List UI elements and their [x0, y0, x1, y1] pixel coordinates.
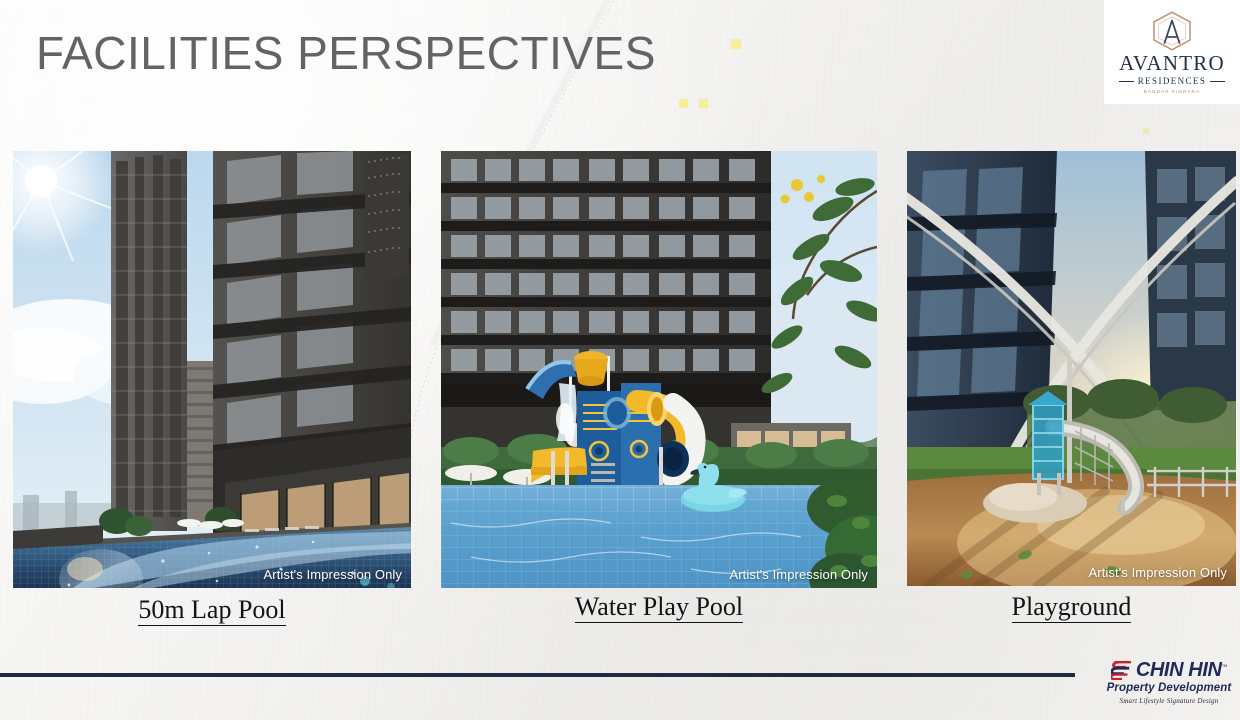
artist-impression-label: Artist's Impression Only [1088, 565, 1227, 580]
playground-image [907, 151, 1236, 586]
decor-square-4 [1143, 128, 1149, 134]
decor-square-1 [731, 39, 741, 49]
caption-water-play-pool-text: Water Play Pool [575, 592, 743, 623]
chin-hin-name: CHIN HIN™ [1136, 660, 1227, 680]
gallery-card-playground[interactable]: Artist's Impression Only [907, 151, 1236, 586]
avantro-name: AVANTRO [1119, 53, 1225, 74]
lap-pool-image [13, 151, 411, 588]
gallery-card-water-play-pool[interactable]: Artist's Impression Only [441, 151, 877, 588]
caption-lap-pool: 50m Lap Pool [13, 595, 411, 625]
rule-left [1119, 81, 1134, 82]
avantro-monogram-icon [1149, 10, 1195, 52]
caption-playground: Playground [907, 592, 1236, 622]
chin-hin-mark-icon [1111, 661, 1133, 680]
decor-square-3 [699, 99, 708, 108]
decor-square-2 [679, 99, 688, 108]
caption-playground-text: Playground [1012, 592, 1132, 623]
avantro-subtitle: RESIDENCES [1138, 77, 1207, 86]
chin-hin-tagline: Smart Lifestyle Signature Design [1120, 697, 1219, 705]
avantro-location: BANDAR KINRARA [1144, 89, 1200, 94]
gallery-card-lap-pool[interactable]: Artist's Impression Only [13, 151, 411, 588]
caption-lap-pool-text: 50m Lap Pool [138, 595, 285, 626]
avantro-logo: AVANTRO RESIDENCES BANDAR KINRARA [1104, 0, 1240, 104]
caption-water-play-pool: Water Play Pool [441, 592, 877, 622]
water-play-pool-image [441, 151, 877, 588]
rule-right [1210, 81, 1225, 82]
chin-hin-name-row: CHIN HIN™ [1111, 660, 1227, 680]
artist-impression-label: Artist's Impression Only [729, 567, 868, 582]
artist-impression-label: Artist's Impression Only [263, 567, 402, 582]
page-title: FACILITIES PERSPECTIVES [36, 26, 656, 80]
footer-rule [0, 673, 1075, 677]
avantro-subtitle-row: RESIDENCES [1119, 77, 1226, 86]
chin-hin-trademark: ™ [1222, 664, 1228, 670]
chin-hin-division: Property Development [1107, 682, 1232, 694]
chin-hin-logo: CHIN HIN™ Property Development Smart Lif… [1098, 660, 1240, 720]
